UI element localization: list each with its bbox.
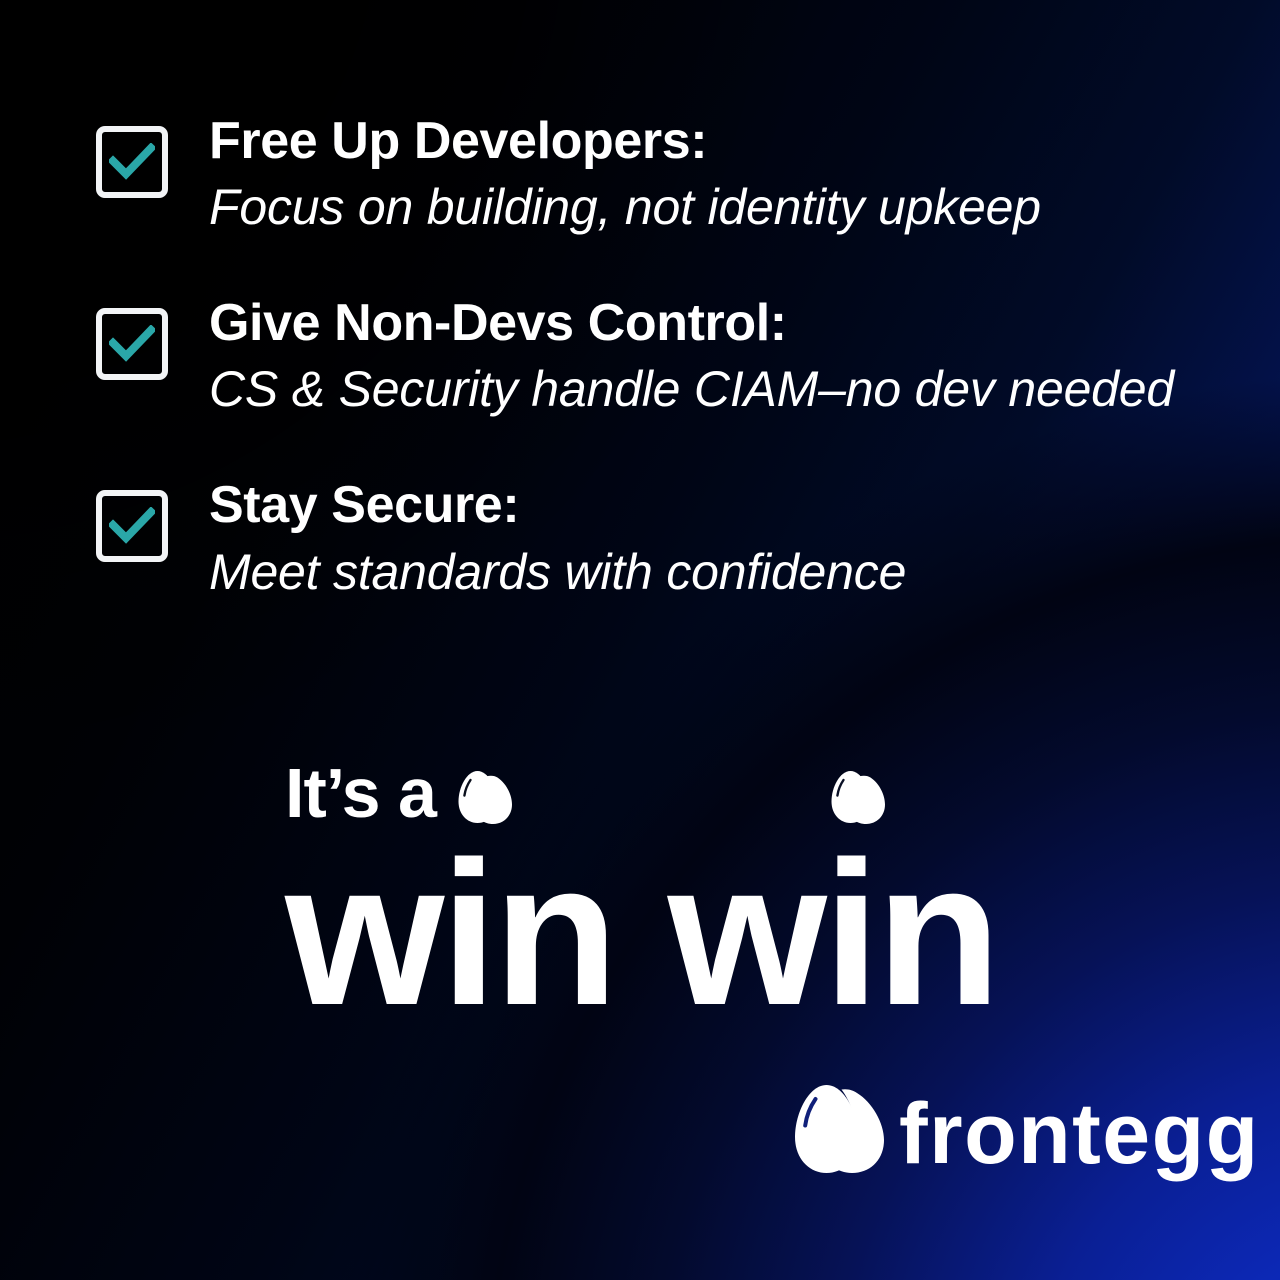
frontegg-egg-logo-icon bbox=[793, 1083, 885, 1184]
hero-big-text: win win bbox=[285, 844, 1045, 1024]
checklist-item-subtitle: Meet standards with confidence bbox=[209, 543, 906, 602]
checklist-item: Give Non-Devs Control: CS & Security han… bbox=[96, 294, 1216, 419]
hero-small-text: It’s a bbox=[285, 758, 436, 828]
hero-line-one: It’s a bbox=[285, 758, 1045, 842]
checklist-item: Stay Secure: Meet standards with confide… bbox=[96, 476, 1216, 601]
egg-icon bbox=[457, 770, 513, 833]
egg-icon bbox=[830, 770, 886, 833]
checklist-item-title: Stay Secure: bbox=[209, 476, 906, 534]
frontegg-logo: frontegg bbox=[793, 1083, 1260, 1184]
benefits-checklist: Free Up Developers: Focus on building, n… bbox=[96, 112, 1216, 602]
checklist-item-text: Free Up Developers: Focus on building, n… bbox=[209, 112, 1041, 237]
checklist-item-subtitle: CS & Security handle CIAM–no dev needed bbox=[209, 360, 1174, 419]
checklist-item-subtitle: Focus on building, not identity upkeep bbox=[209, 178, 1041, 237]
frontegg-wordmark: frontegg bbox=[899, 1091, 1260, 1177]
checklist-item-text: Give Non-Devs Control: CS & Security han… bbox=[209, 294, 1174, 419]
checkbox-checked-icon bbox=[96, 308, 168, 380]
checkbox-checked-icon bbox=[96, 126, 168, 198]
checklist-item-text: Stay Secure: Meet standards with confide… bbox=[209, 476, 906, 601]
checklist-item: Free Up Developers: Focus on building, n… bbox=[96, 112, 1216, 237]
checklist-item-title: Free Up Developers: bbox=[209, 112, 1041, 170]
promo-card: Free Up Developers: Focus on building, n… bbox=[0, 0, 1280, 1280]
hero-headline: It’s a win win bbox=[285, 758, 1045, 1024]
checkbox-checked-icon bbox=[96, 490, 168, 562]
checklist-item-title: Give Non-Devs Control: bbox=[209, 294, 1174, 352]
